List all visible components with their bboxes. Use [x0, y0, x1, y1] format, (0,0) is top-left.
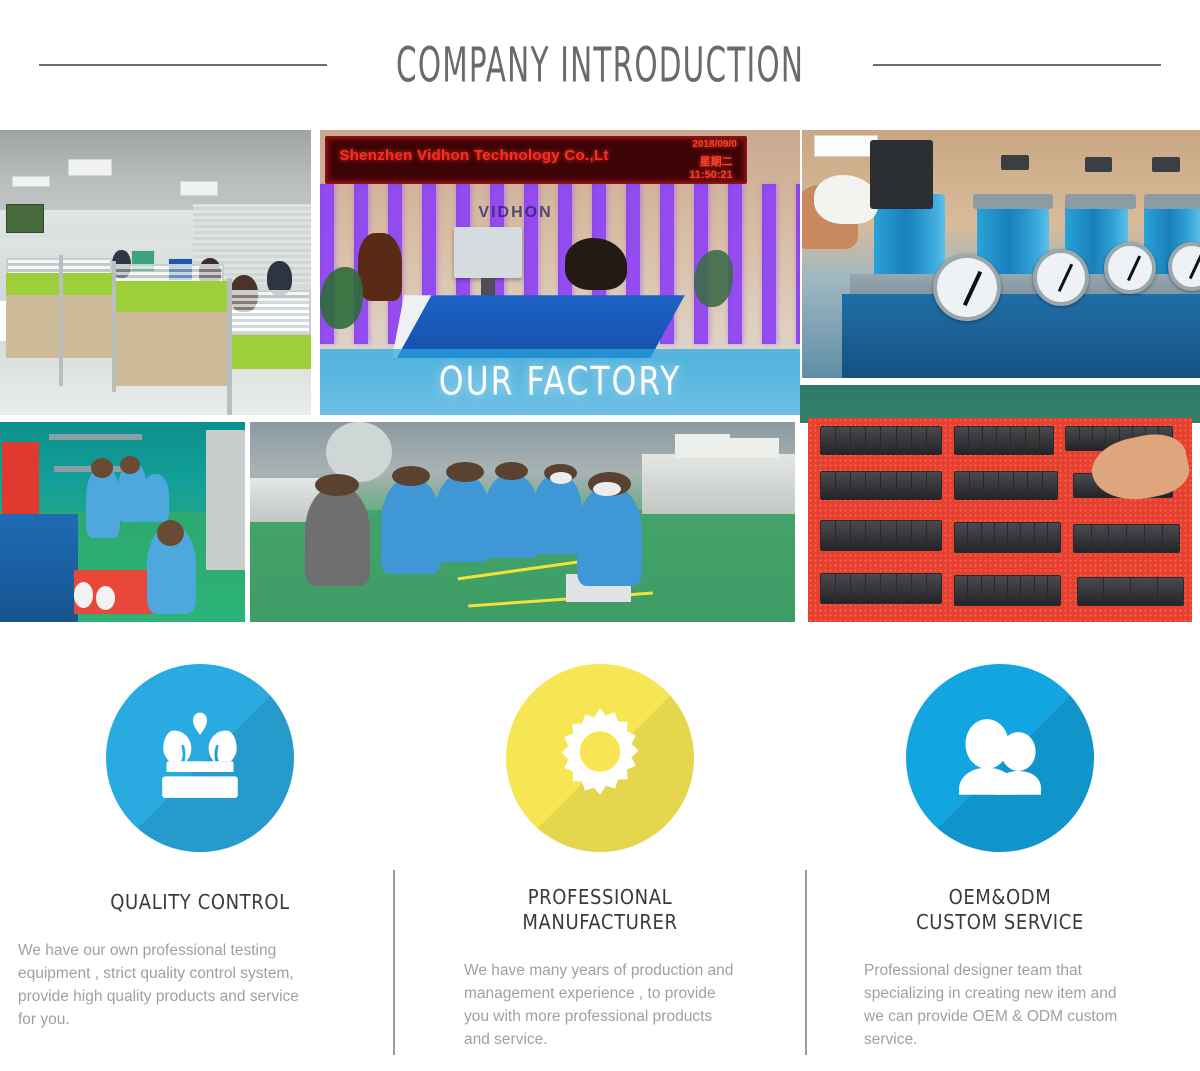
key-row	[1077, 577, 1185, 606]
pressure-gauge	[1104, 242, 1156, 294]
assembly-worker	[142, 474, 169, 522]
face-mask	[550, 472, 572, 484]
parts-box	[675, 434, 730, 458]
led-date: 2018/09/0	[692, 139, 737, 150]
our-factory-overlay: OUR FACTORY	[320, 349, 800, 415]
equipment-base	[842, 294, 1200, 378]
key-row	[820, 573, 943, 604]
assembly-shelf	[49, 434, 142, 440]
worker-head	[495, 462, 528, 480]
worker-head	[315, 474, 359, 496]
ceiling-light	[12, 176, 49, 187]
key-row	[1073, 524, 1181, 553]
oem-odm-icon-circle	[906, 664, 1094, 852]
line-worker	[305, 486, 370, 586]
office-scene	[0, 130, 311, 415]
led-company-name: Shenzhen Vidhon Technology Co.,Lt	[339, 147, 608, 164]
features-section: QUALITY CONTROL We have our own professi…	[0, 640, 1200, 1071]
cubicle-post	[112, 261, 116, 392]
reception-photo: VIDHON Shenzhen Vidhon Technology Co.,Lt…	[320, 130, 800, 415]
worker-head	[91, 458, 113, 478]
ceiling-light	[68, 159, 112, 176]
feature-title: QUALITY CONTROL	[110, 890, 290, 915]
line-worker	[381, 478, 441, 574]
ceiling-light	[180, 181, 217, 195]
workstation-sign	[814, 135, 878, 157]
quality-control-icon-circle	[106, 664, 294, 852]
worker-head	[120, 456, 140, 474]
line-scene	[250, 422, 795, 622]
key-row	[820, 520, 943, 551]
feature-title-line: CUSTOM SERVICE	[916, 910, 1084, 935]
white-part	[96, 586, 116, 610]
cylinder-clamp	[973, 194, 1053, 209]
led-sign-board: Shenzhen Vidhon Technology Co.,Lt 2018/0…	[325, 136, 747, 184]
feature-oem-odm: OEM&ODM CUSTOM SERVICE Professional desi…	[800, 640, 1200, 1071]
dragon-ornament	[565, 238, 627, 289]
cylinder-clamp	[1144, 194, 1200, 209]
key-row	[954, 522, 1062, 553]
pressure-gauge	[1033, 249, 1089, 306]
valve-handle	[1152, 157, 1180, 172]
led-weekday: 星期二	[700, 153, 733, 169]
feature-divider	[805, 870, 807, 1055]
users-icon	[946, 704, 1054, 812]
office-photo	[0, 130, 311, 415]
feature-title-line: MANUFACTURER	[522, 910, 677, 935]
cubicle-green-band	[112, 281, 230, 312]
work-bench	[642, 454, 795, 514]
packing-photo	[800, 385, 1200, 622]
cubicle-post	[227, 278, 232, 415]
wood-statue	[358, 233, 401, 301]
keys-scene	[800, 385, 1200, 622]
feature-title-line: QUALITY CONTROL	[110, 890, 290, 915]
cylinder-clamp	[1065, 194, 1137, 209]
pressure-gauge	[933, 254, 1001, 321]
testing-scene	[802, 130, 1200, 378]
feature-title: OEM&ODM CUSTOM SERVICE	[916, 885, 1084, 935]
feature-professional-manufacturer: PROFESSIONAL MANUFACTURER We have many y…	[400, 640, 800, 1071]
production-line-photo	[250, 422, 795, 622]
valve-handle	[1001, 155, 1029, 170]
page-header: COMPANY INTRODUCTION	[0, 0, 1200, 130]
feature-body: Professional designer team that speciali…	[864, 959, 1136, 1051]
assembly-photo	[0, 422, 245, 622]
feature-title-line: PROFESSIONAL	[522, 885, 677, 910]
parts-box	[730, 438, 779, 458]
key-row	[954, 575, 1062, 606]
key-row	[820, 426, 943, 455]
feature-divider	[393, 870, 395, 1055]
wall-picture	[6, 204, 43, 233]
line-worker	[484, 474, 539, 558]
reception-monitor	[454, 227, 521, 278]
line-worker	[435, 474, 490, 562]
photo-collage: VIDHON Shenzhen Vidhon Technology Co.,Lt…	[0, 130, 1200, 622]
cubicle-beige-band	[112, 312, 230, 386]
cubicle-post	[59, 255, 63, 386]
our-factory-caption: OUR FACTORY	[439, 360, 681, 405]
key-row	[820, 471, 943, 500]
worker-head	[157, 520, 184, 546]
storage-rack	[206, 430, 245, 570]
line-worker	[577, 486, 642, 586]
feature-title: PROFESSIONAL MANUFACTURER	[522, 885, 677, 935]
cubicle-glass	[230, 290, 311, 336]
header-rule-left	[39, 64, 327, 66]
metal-rack	[870, 140, 934, 209]
feature-quality-control: QUALITY CONTROL We have our own professi…	[0, 640, 400, 1071]
reception-plant	[694, 250, 732, 307]
key-row	[954, 426, 1054, 455]
testing-equipment-photo	[802, 130, 1200, 378]
feature-body: We have our own professional testing equ…	[18, 939, 310, 1031]
vidhon-wall-logo: VIDHON	[478, 204, 552, 222]
valve-handle	[1085, 157, 1113, 172]
manufacturer-icon-circle	[506, 664, 694, 852]
line-worker	[533, 474, 582, 554]
key-row	[954, 471, 1058, 500]
led-time: 11:50:21	[689, 169, 732, 181]
face-mask	[593, 482, 620, 496]
blue-machine	[0, 514, 78, 622]
header-rule-right	[873, 64, 1161, 66]
crown-icon	[146, 704, 254, 812]
white-part	[74, 582, 94, 608]
exhaust-duct	[326, 422, 391, 482]
worker-head	[392, 466, 430, 486]
feature-body: We have many years of production and man…	[464, 959, 736, 1051]
cubicle-green-band	[230, 335, 311, 369]
gear-icon	[546, 704, 654, 812]
reception-scene: VIDHON Shenzhen Vidhon Technology Co.,Lt…	[320, 130, 800, 415]
assembly-scene	[0, 422, 245, 622]
page-title: COMPANY INTRODUCTION	[396, 37, 804, 94]
feature-title-line: OEM&ODM	[916, 885, 1084, 910]
